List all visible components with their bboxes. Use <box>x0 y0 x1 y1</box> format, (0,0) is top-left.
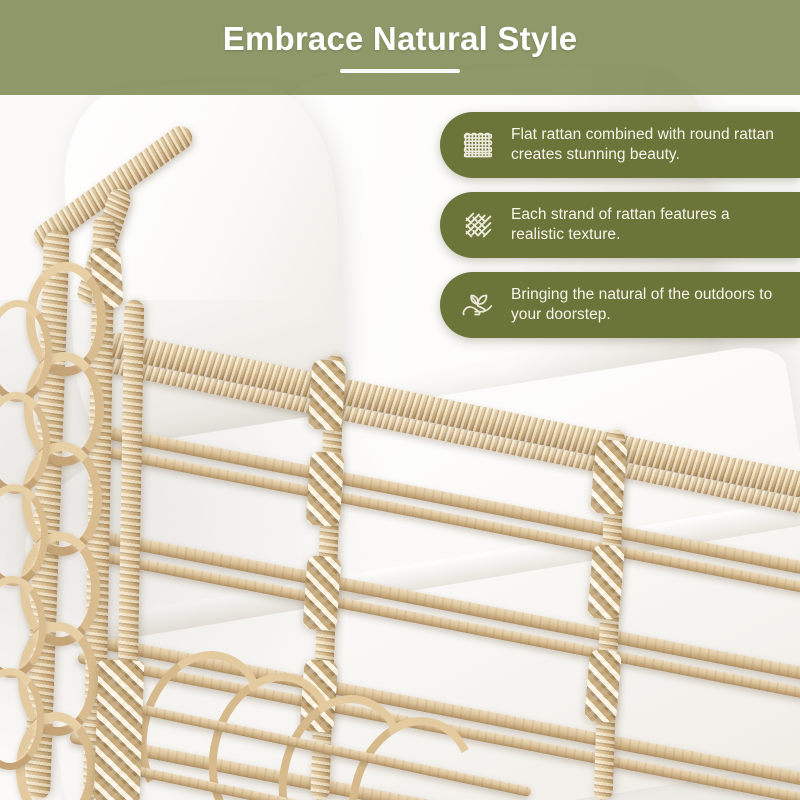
rattan-weave-knot <box>302 555 341 631</box>
feature-callout-text: Flat rattan combined with round rattan c… <box>511 125 784 165</box>
rattan-basket-weave-block <box>93 659 144 800</box>
rattan-weave-knot <box>590 439 628 516</box>
product-feature-image: Embrace Natural Style Flat rattan combin… <box>0 0 800 800</box>
title-underline-rule <box>340 69 460 73</box>
feature-callout-2[interactable]: Each strand of rattan features a realist… <box>440 192 800 258</box>
feature-callout-list: Flat rattan combined with round rattan c… <box>440 112 800 338</box>
feature-callout-3[interactable]: Bringing the natural of the outdoors to … <box>440 272 800 338</box>
feature-callout-text: Each strand of rattan features a realist… <box>511 205 784 245</box>
hand-holding-leaf-icon <box>458 285 498 325</box>
rattan-weave-knot <box>587 544 625 621</box>
header-banner: Embrace Natural Style <box>0 0 800 95</box>
rattan-weave-knot <box>308 359 347 431</box>
feature-callout-1[interactable]: Flat rattan combined with round rattan c… <box>440 112 800 178</box>
page-title: Embrace Natural Style <box>223 22 578 55</box>
basket-weave-icon <box>458 125 498 165</box>
rattan-weave-knot <box>305 451 344 527</box>
feature-callout-text: Bringing the natural of the outdoors to … <box>511 285 784 325</box>
rattan-weave-knot <box>584 649 622 724</box>
herringbone-weave-icon <box>458 205 498 245</box>
